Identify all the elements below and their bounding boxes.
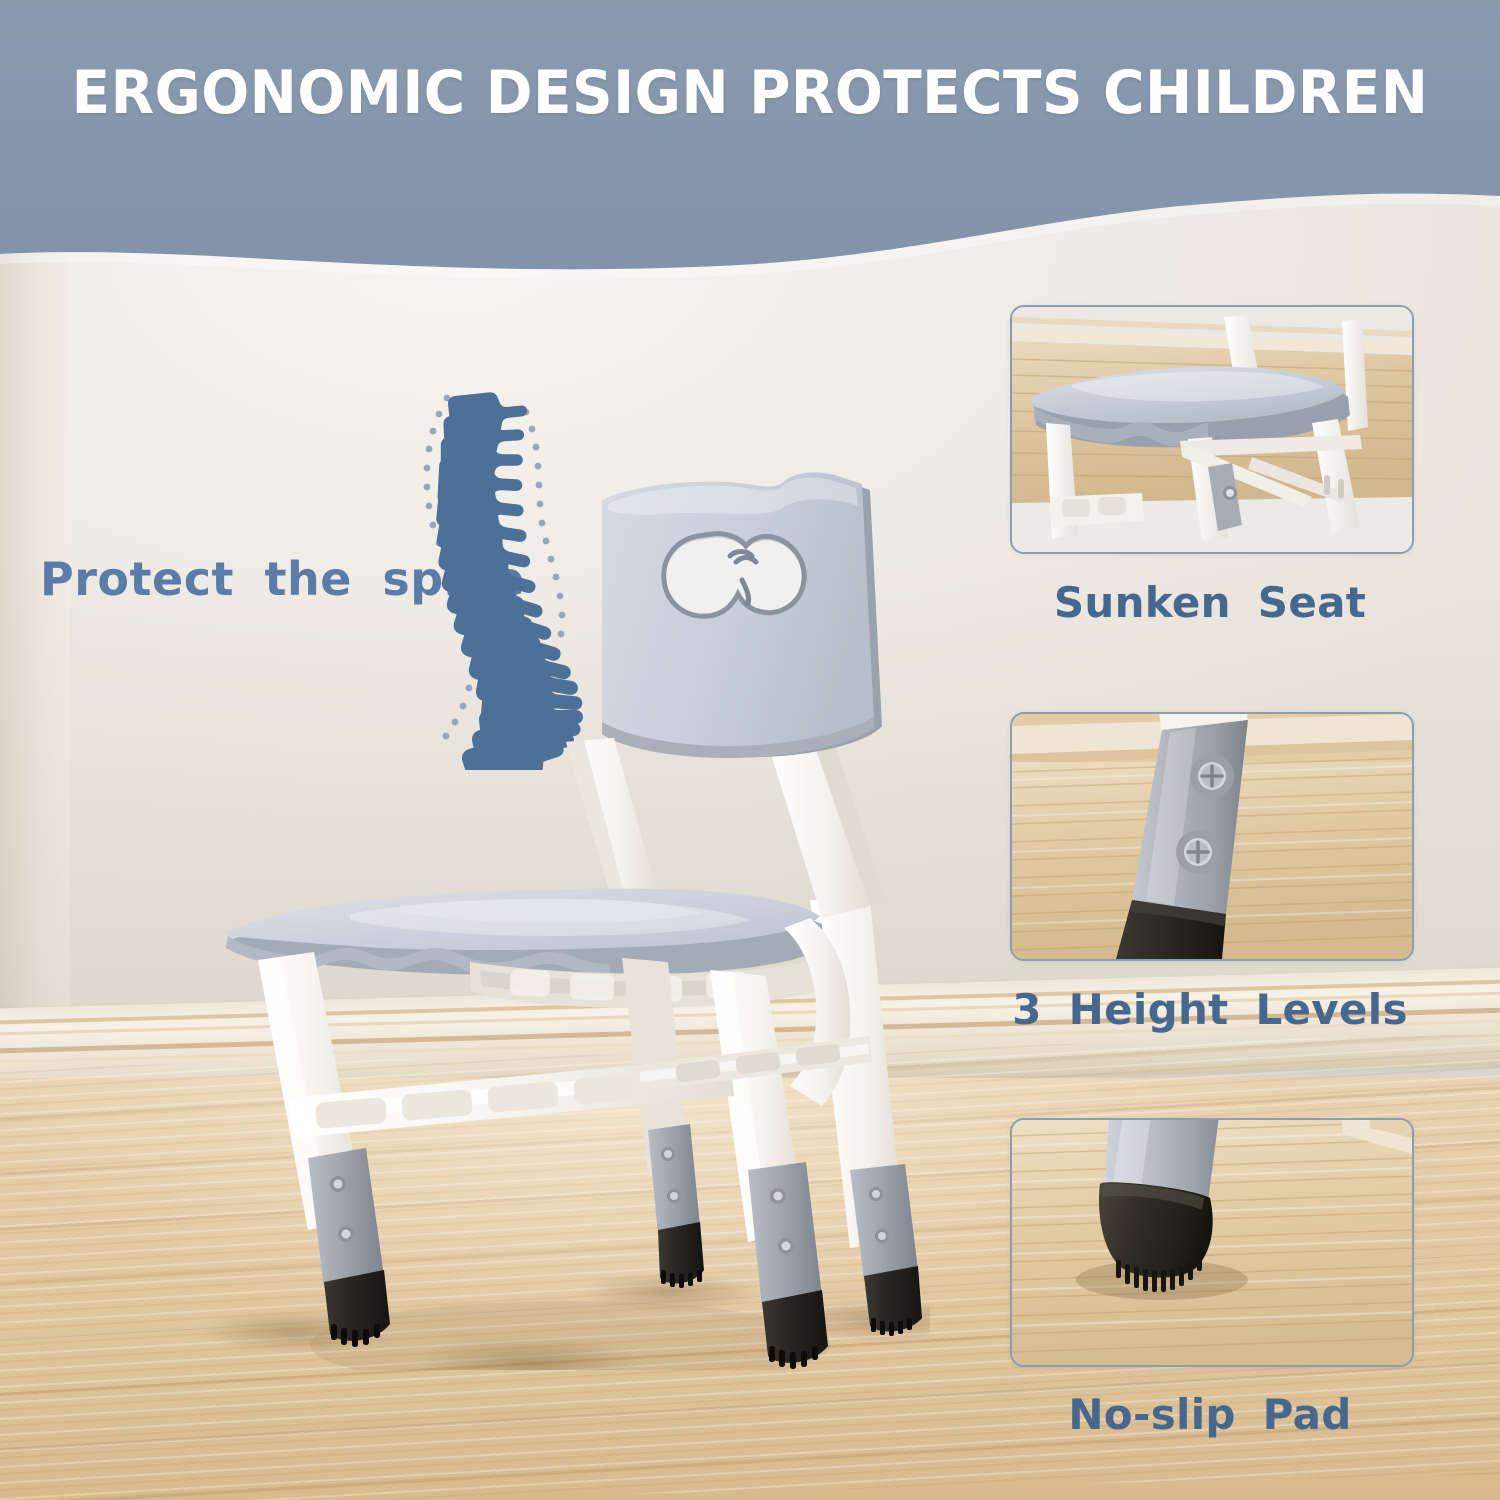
feature-panel-no-slip-pad[interactable] — [1010, 1118, 1414, 1367]
product-chair-illustration — [170, 470, 930, 1370]
header-banner — [0, 0, 1500, 300]
page-title: ERGONOMIC DESIGN PROTECTS CHILDREN — [45, 58, 1455, 128]
infographic-canvas: ERGONOMIC DESIGN PROTECTS CHILDREN Prote… — [0, 0, 1500, 1500]
feature-caption-sunken-seat: Sunken Seat — [1010, 578, 1410, 627]
feature-caption-height-levels: 3 Height Levels — [1010, 985, 1410, 1034]
feature-caption-no-slip-pad: No-slip Pad — [1010, 1390, 1410, 1439]
feature-panel-sunken-seat[interactable] — [1010, 305, 1414, 554]
feature-panel-height-levels[interactable] — [1010, 712, 1414, 961]
